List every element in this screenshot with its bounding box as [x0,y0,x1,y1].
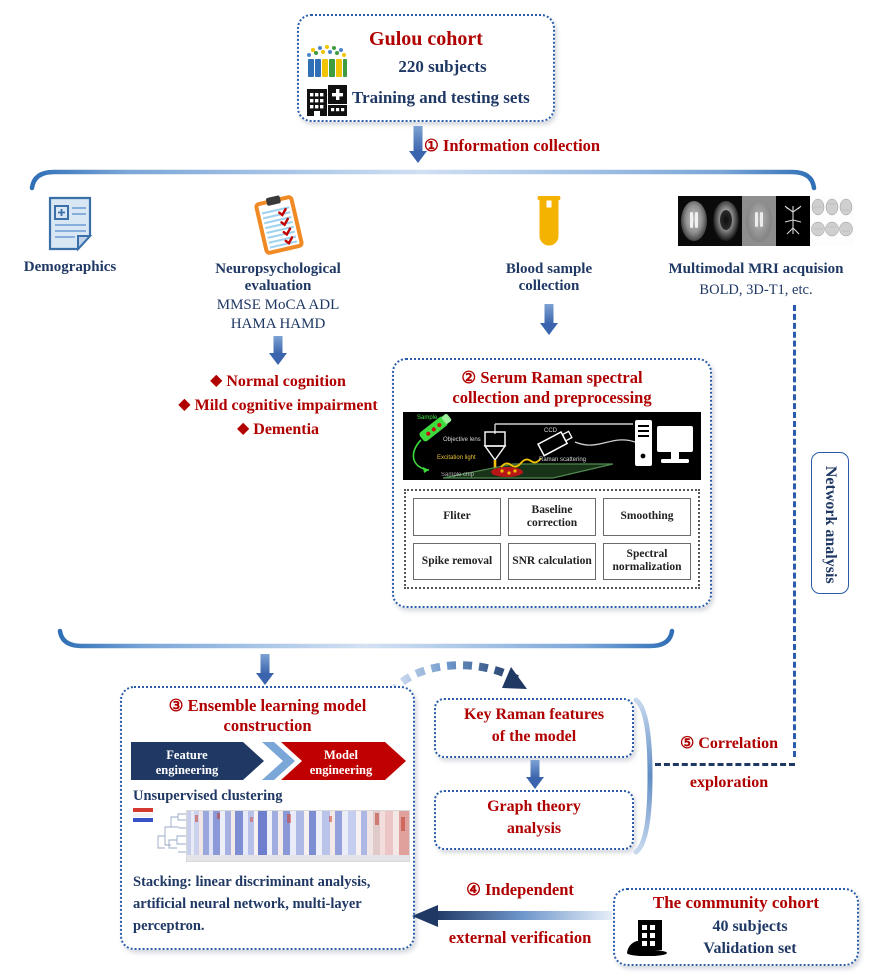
preprocessing-step: Spectral normalization [603,543,691,581]
top-bracket [28,166,818,192]
outcome-label: Dementia [253,421,319,438]
preprocessing-step: Smoothing [603,498,691,536]
step5-line1: ⑤ Correlation [655,734,803,754]
workflow-diagram: Gulou cohort 220 subjects Training and t… [0,0,872,978]
mri-network-connector [793,305,796,757]
community-cohort-set: Validation set [660,939,840,959]
unsupervised-clustering-heatmap [186,810,410,862]
step2-title-line2: collection and preprocessing [392,388,712,408]
clipboard-checklist-icon [248,194,310,256]
document-page-icon [47,196,93,252]
raman-label-objective-lens: Objective lens [443,437,481,443]
stacking-line1: Stacking: linear discriminant analysis, [133,874,370,892]
step2-title-line1: ② Serum Raman spectral [392,368,712,388]
gulou-cohort-sets: Training and testing sets [352,88,562,109]
key-features-line1: Key Raman features [434,705,634,725]
lower-bracket [56,628,676,652]
raman-label-excitation-light: Excitation light [437,455,476,461]
step3-title-line1: ③ Ensemble learning model [120,696,415,716]
blood-sample-title-line2: collection [459,277,639,295]
clustering-dendrogram [152,808,186,860]
diamond-bullet-icon: ◆ [210,371,222,391]
raman-label-sample: Sample [417,415,437,421]
preprocessing-step: Fliter [413,498,501,536]
diamond-bullet-icon: ◆ [237,419,249,439]
community-cohort-title: The community cohort [613,893,859,914]
outcome-mild-cognitive-impairment: ◆ Mild cognitive impairment [118,396,438,416]
step4-arrow [412,905,612,927]
neuropsych-scales-line2: HAMA HAMD [168,315,388,333]
neuropsych-title-line1: Neuropsychological [168,260,388,278]
chevron-feature-engineering-line2: engineering [131,763,243,778]
preprocessing-steps-grid: Fliter Baseline correction Smoothing Spi… [404,489,700,589]
blood-sample-arrow [539,304,559,336]
key-features-to-graph-arrow [525,760,545,790]
graph-theory-line1: Graph theory [434,797,634,817]
preprocessing-step: SNR calculation [508,543,596,581]
demographics-title: Demographics [0,258,140,276]
mri-subtitle: BOLD, 3D-T1, etc. [640,282,872,300]
outcome-label: Normal cognition [226,373,346,390]
community-cohort-subjects: 40 subjects [660,917,840,937]
raman-label-sample-chip: Sample chip [441,472,474,478]
mri-title: Multimodal MRI acquision [640,260,872,278]
outcome-label: Mild cognitive impairment [195,397,378,414]
outcome-dementia: ◆ Dementia [138,420,418,440]
raman-setup-illustration: Sample Objective lens Excitation light C… [403,412,701,480]
diamond-bullet-icon: ◆ [178,395,190,415]
stacking-line2: artificial neural network, multi-layer [133,896,362,914]
gulou-cohort-title: Gulou cohort [297,27,555,51]
blood-test-tube-icon [532,196,566,254]
neuropsych-scales-line1: MMSE MoCA ADL [168,296,388,314]
step3-arrow [255,654,275,686]
step1-label: ① Information collection [424,136,600,156]
step5-line2: exploration [655,773,803,793]
step3-title-line2: construction [120,716,415,736]
neuropsych-title-line2: evaluation [168,277,388,295]
raman-label-ccd: CCD [544,428,557,434]
blood-sample-title-line1: Blood sample [459,260,639,278]
chevron-model-engineering-line1: Model [285,748,397,763]
network-analysis-label: Network analysis [820,455,840,595]
raman-label-raman-scattering: Raman scattering [539,457,586,463]
chevron-feature-engineering-line1: Feature [131,748,243,763]
preprocessing-step: Spike removal [413,543,501,581]
hospital-building-icon [306,85,348,117]
unsupervised-clustering-label: Unsupervised clustering [133,788,282,806]
key-features-line2: of the model [434,727,634,747]
outcome-normal-cognition: ◆ Normal cognition [138,372,418,392]
graph-theory-line2: analysis [434,819,634,839]
correlation-dashed-connector [655,763,795,766]
stacking-line3: perceptron. [133,918,205,936]
step4-line2: external verification [408,928,632,948]
mri-brain-images-icon [678,196,854,246]
step4-line1: ④ Independent [420,880,620,900]
neuropsych-arrow [268,336,288,366]
gulou-cohort-subjects: 220 subjects [330,57,555,78]
heatmap-legend-swatch [133,808,153,822]
chevron-model-engineering-line2: engineering [285,763,397,778]
preprocessing-step: Baseline correction [508,498,596,536]
